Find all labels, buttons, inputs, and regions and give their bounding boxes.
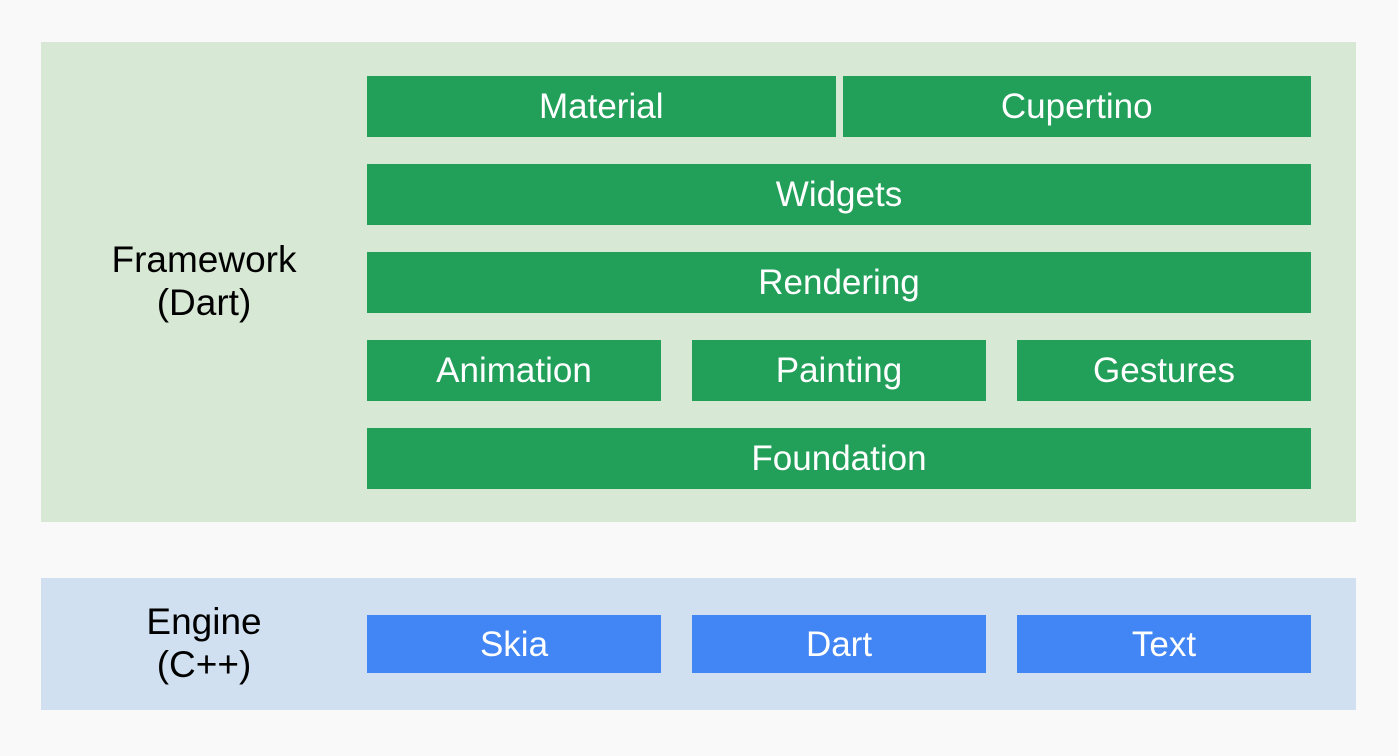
layer-engine-modules: Skia Dart Text: [367, 578, 1356, 710]
module-box-skia[interactable]: Skia: [367, 615, 661, 673]
module-box-widgets[interactable]: Widgets: [367, 164, 1311, 225]
module-box-cupertino[interactable]: Cupertino: [843, 76, 1312, 137]
layer-framework-label: Framework (Dart): [41, 42, 367, 522]
module-box-painting[interactable]: Painting: [692, 340, 986, 401]
module-box-foundation[interactable]: Foundation: [367, 428, 1311, 489]
layer-engine: Engine (C++) Skia Dart Text: [41, 578, 1356, 710]
module-box-text[interactable]: Text: [1017, 615, 1311, 673]
layer-framework-label-sub: (Dart): [157, 282, 252, 325]
module-box-material[interactable]: Material: [367, 76, 836, 137]
layer-framework-label-main: Framework: [111, 239, 296, 282]
module-row-widgets: Widgets: [367, 164, 1311, 225]
module-row-rendering: Rendering: [367, 252, 1311, 313]
module-row-animation-painting-gestures: Animation Painting Gestures: [367, 340, 1311, 401]
module-box-dart[interactable]: Dart: [692, 615, 986, 673]
layer-framework: Framework (Dart) Material Cupertino Widg…: [41, 42, 1356, 522]
module-box-rendering[interactable]: Rendering: [367, 252, 1311, 313]
module-row-foundation: Foundation: [367, 428, 1311, 489]
layer-engine-label: Engine (C++): [41, 578, 367, 710]
layer-engine-label-sub: (C++): [157, 644, 252, 687]
layer-engine-label-main: Engine: [146, 601, 261, 644]
module-row-skia-dart-text: Skia Dart Text: [367, 615, 1311, 673]
layer-framework-modules: Material Cupertino Widgets Rendering Ani…: [367, 42, 1356, 522]
module-box-gestures[interactable]: Gestures: [1017, 340, 1311, 401]
module-row-material-cupertino: Material Cupertino: [367, 76, 1311, 137]
architecture-diagram: Framework (Dart) Material Cupertino Widg…: [0, 0, 1398, 756]
module-box-animation[interactable]: Animation: [367, 340, 661, 401]
